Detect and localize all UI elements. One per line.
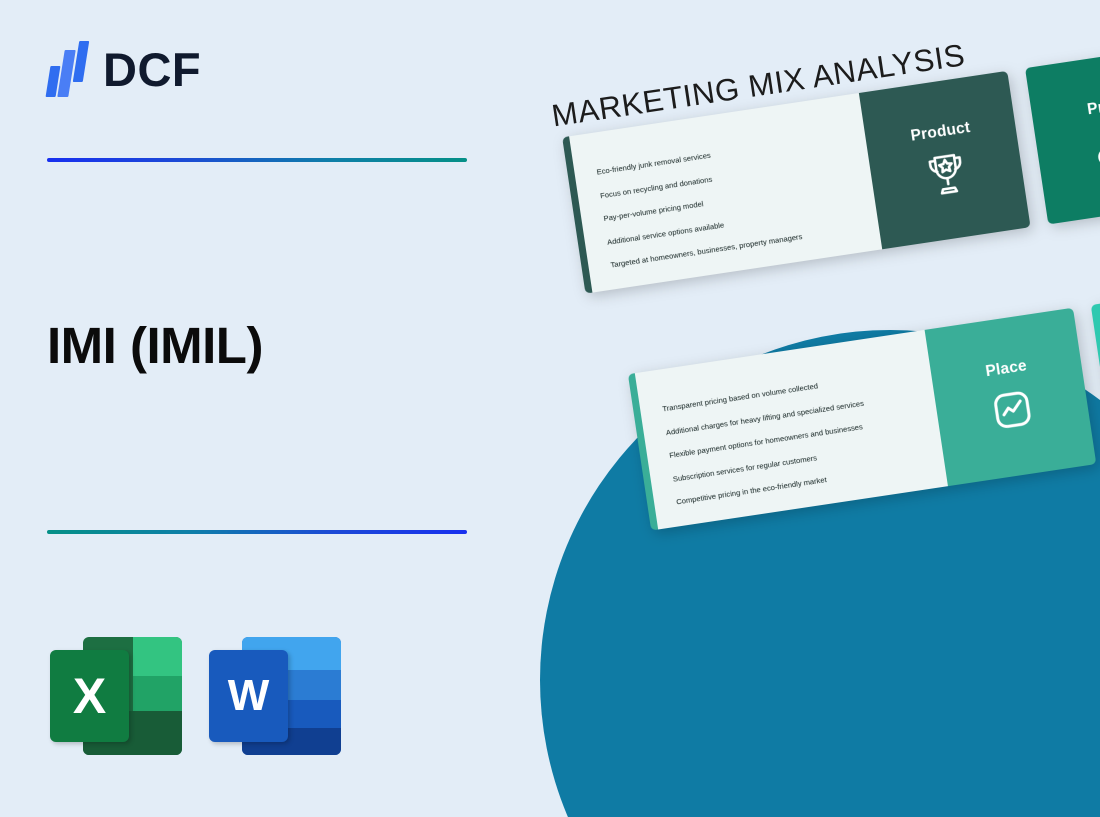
trophy-icon: [919, 146, 974, 201]
word-file-icon[interactable]: W: [209, 637, 341, 755]
word-icon-letter: W: [209, 650, 288, 742]
panel-promotion[interactable]: Promotion: [1091, 283, 1100, 461]
list-item: Transparent pricing based on volume coll…: [662, 368, 917, 413]
excel-icon-letter: X: [50, 650, 129, 742]
divider-top: [47, 158, 467, 162]
place-bullet-card: Transparent pricing based on volume coll…: [628, 330, 948, 531]
excel-file-icon[interactable]: X: [50, 637, 182, 755]
panel-product[interactable]: Product: [859, 71, 1031, 249]
chart-square-icon: [985, 383, 1040, 438]
dcf-bars-logo-icon: [47, 40, 91, 98]
brand-logo[interactable]: DCF: [47, 40, 201, 98]
download-icons: X W: [50, 637, 341, 755]
divider-bottom: [47, 530, 467, 534]
panel-place-label: Place: [984, 357, 1028, 381]
brand-name: DCF: [103, 46, 201, 93]
panel-product-label: Product: [910, 119, 972, 146]
page-title: IMI (IMIL): [47, 316, 263, 375]
panel-place[interactable]: Place: [925, 308, 1097, 486]
tilted-content-group: MARKETING MIX ANALYSIS Eco-friendly junk…: [540, 0, 1100, 817]
list-item: Eco-friendly junk removal services: [596, 131, 851, 176]
mix-row-place-promotion: Transparent pricing based on volume coll…: [628, 283, 1100, 531]
link-icon: [1085, 121, 1100, 176]
left-info-panel: DCF IMI (IMIL) X W: [0, 0, 540, 817]
panel-price[interactable]: Price: [1025, 46, 1100, 224]
marketing-mix-infographic: MARKETING MIX ANALYSIS Eco-friendly junk…: [540, 0, 1100, 817]
panel-price-label: Price: [1086, 96, 1100, 120]
